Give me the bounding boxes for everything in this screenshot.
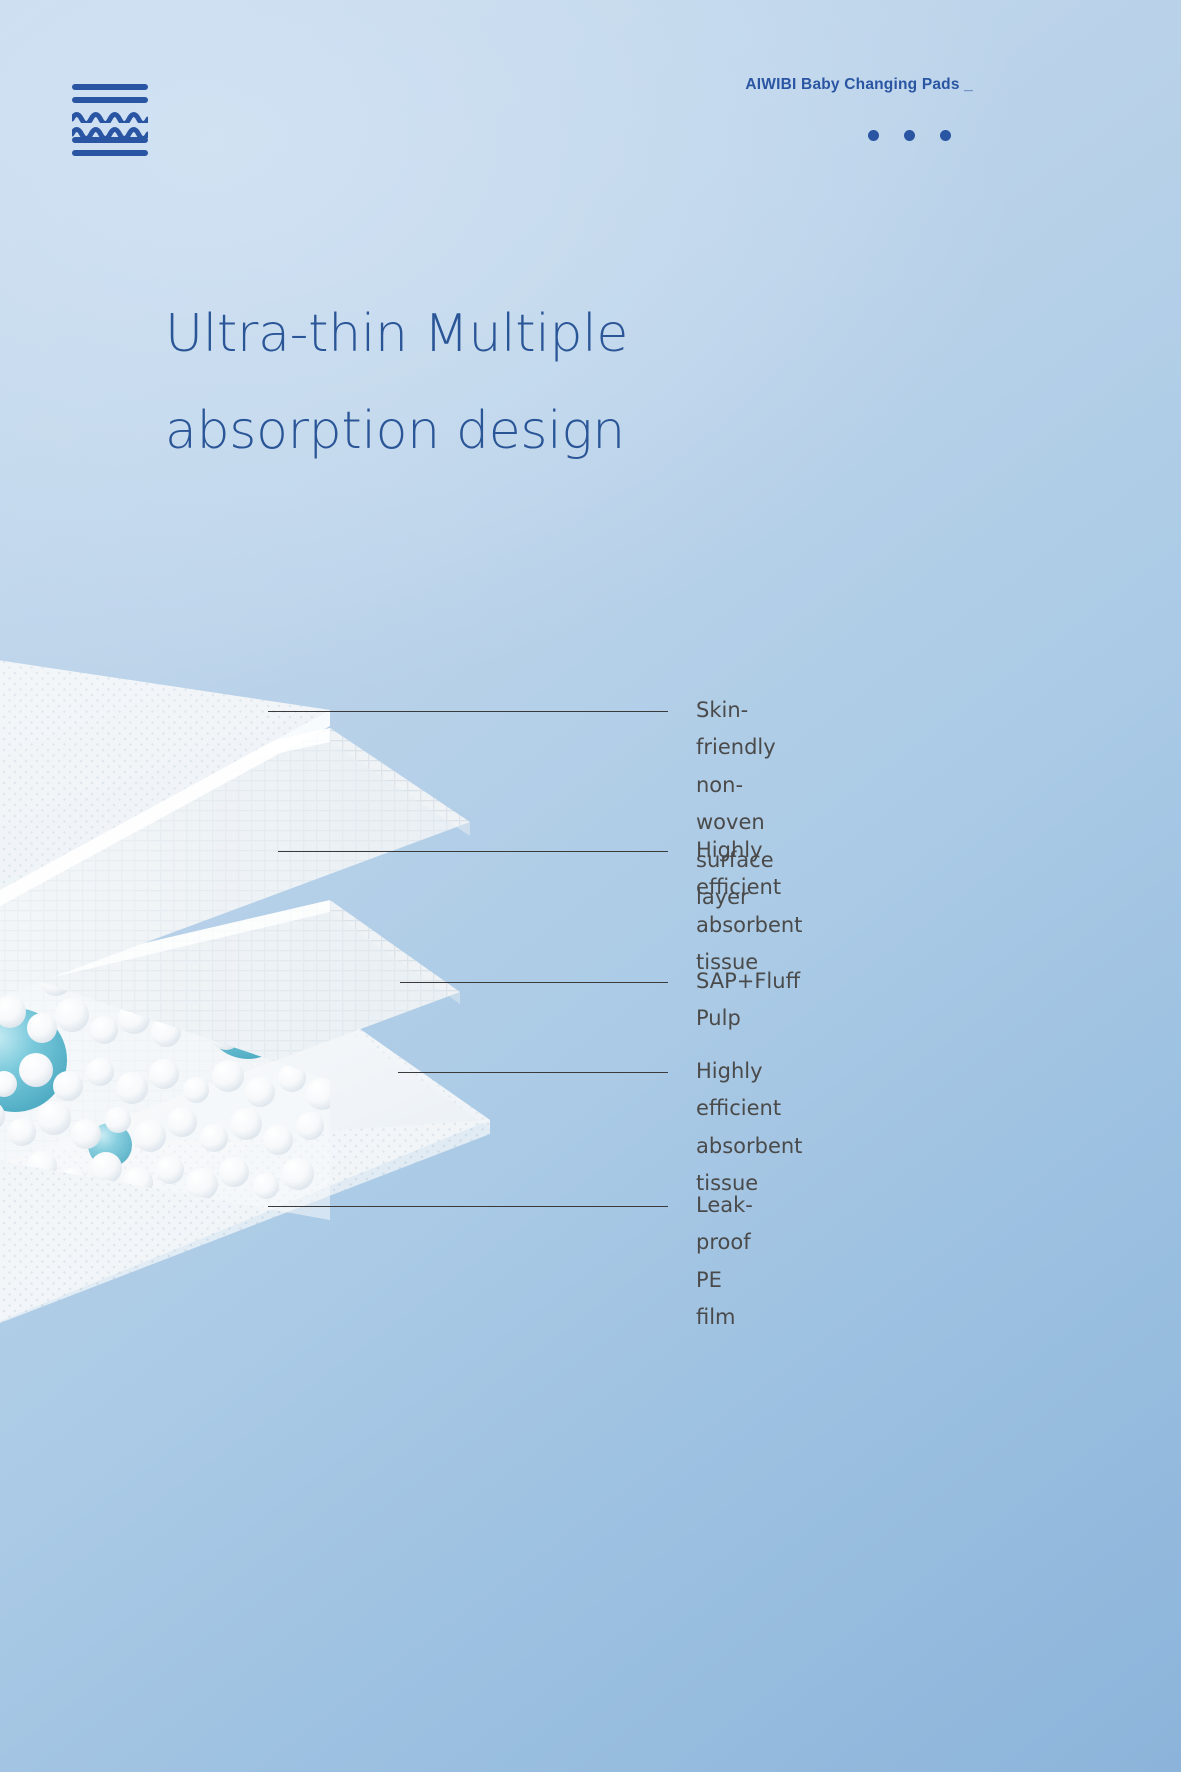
callout-label: SAP+Fluff Pulp <box>696 963 800 1038</box>
leader-line <box>268 1206 668 1207</box>
logo-bar-3 <box>72 137 148 143</box>
pagination-dot-3 <box>940 130 951 141</box>
leader-line <box>278 851 668 852</box>
pagination-dot-2 <box>904 130 915 141</box>
logo-bar-2 <box>72 97 148 103</box>
pagination-dots <box>868 130 951 141</box>
logo-bar-4 <box>72 150 148 156</box>
brand-label: AIWIBI Baby Changing Pads _ <box>745 76 973 94</box>
page-title-line-2: absorption design <box>165 383 785 480</box>
page-title: Ultra-thin Multiple absorption design <box>165 286 785 479</box>
leader-line <box>398 1072 668 1073</box>
callout-label: Highly efficient absorbent tissue <box>696 832 802 982</box>
leader-line <box>268 711 668 712</box>
logo-wave-1 <box>72 108 148 120</box>
layered-absorption-icon <box>72 84 148 156</box>
logo-wave-2 <box>72 123 148 135</box>
page-title-line-1: Ultra-thin Multiple <box>165 304 628 364</box>
logo-bar-1 <box>72 84 148 90</box>
pagination-dot-1 <box>868 130 879 141</box>
callout-label: Highly efficient absorbent tissue <box>696 1053 802 1203</box>
callout-label: Leak-proof PE film <box>696 1187 753 1337</box>
product-layers-illustration <box>0 560 670 1420</box>
leader-line <box>400 982 668 983</box>
product-infographic-page: AIWIBI Baby Changing Pads _ Ultra-thin M… <box>0 0 1181 1772</box>
